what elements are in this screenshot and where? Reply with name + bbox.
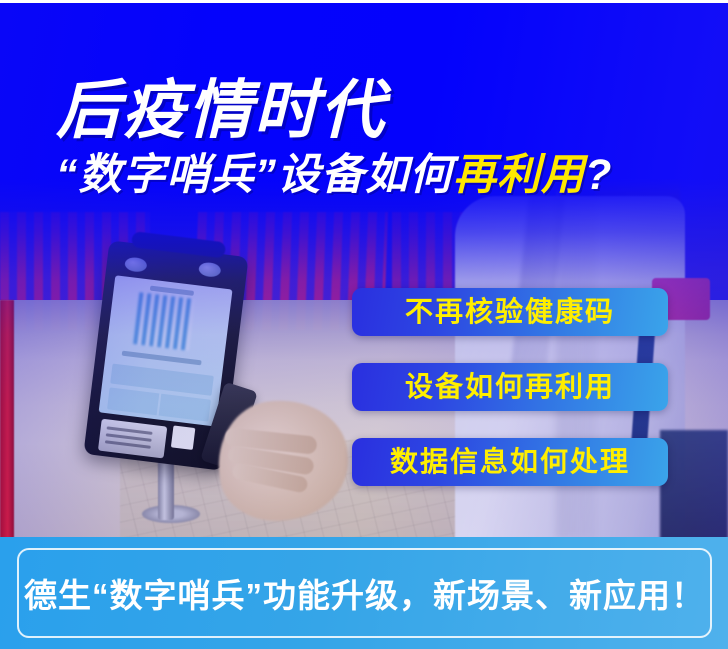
feature-pill-1-label: 不再核验健康码 (405, 298, 615, 326)
bottom-banner-frame: 德生“数字哨兵”功能升级，新场景、新应用！ (17, 548, 712, 638)
headline-sub: “数字哨兵”设备如何再利用? (56, 154, 612, 197)
feature-pill-2-label: 设备如何再利用 (405, 373, 615, 401)
headline-sub-prefix: “数字哨兵”设备如何 (56, 151, 453, 199)
feature-pill-1[interactable]: 不再核验健康码 (352, 288, 668, 336)
bottom-banner-text: 德生“数字哨兵”功能升级，新场景、新应用！ (24, 569, 705, 617)
feature-pill-3-label: 数据信息如何处理 (390, 448, 630, 476)
poster-root: 后疫情时代 “数字哨兵”设备如何再利用? 不再核验健康码 设备如何再利用 数据信… (0, 0, 728, 649)
feature-pill-2[interactable]: 设备如何再利用 (352, 363, 668, 411)
headline-block: 后疫情时代 “数字哨兵”设备如何再利用? (56, 78, 612, 197)
headline-sub-suffix: ? (585, 151, 612, 199)
top-edge-sliver (0, 0, 728, 3)
feature-pill-list: 不再核验健康码 设备如何再利用 数据信息如何处理 (352, 288, 668, 486)
headline-sub-highlight: 再利用 (453, 151, 585, 199)
feature-pill-3[interactable]: 数据信息如何处理 (352, 438, 668, 486)
bottom-banner: 德生“数字哨兵”功能升级，新场景、新应用！ (0, 537, 728, 649)
headline-main: 后疫情时代 (56, 78, 612, 142)
